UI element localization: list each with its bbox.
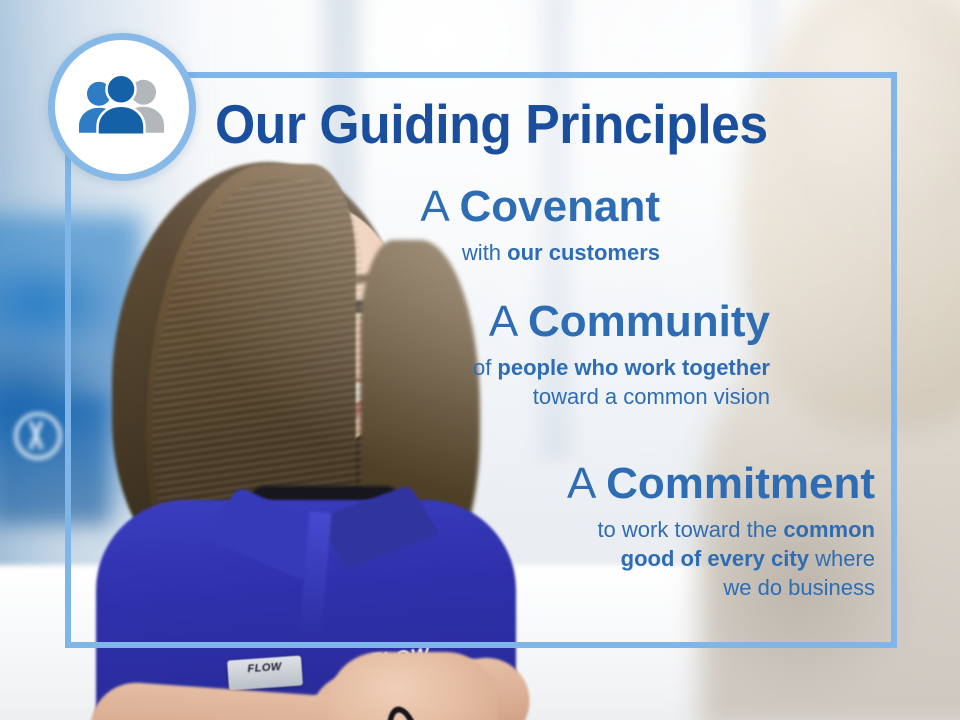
principle-commitment-sub-plain-2: where [809,546,875,571]
principle-commitment-subtitle: to work toward the common good of every … [360,515,875,603]
principle-covenant-sub-plain: with [462,240,507,265]
principle-covenant-lead: A [420,182,459,231]
principle-community-sub-plain-2: toward a common vision [533,384,770,409]
principle-commitment-sub-bold-2: good of every city [621,546,809,571]
principle-community: A Community of people who work together … [290,300,770,411]
principle-community-sub-plain-1: of [473,355,497,380]
principle-community-title: A Community [290,300,770,345]
principle-covenant-sub-bold: our customers [507,240,660,265]
principle-commitment-title: A Commitment [360,462,875,507]
principle-commitment-lead: A [567,459,606,508]
blurred-vehicle-badge [14,412,62,460]
principle-commitment-sub-plain-3: we do business [723,575,875,600]
principle-community-lead: A [489,297,528,346]
page-title: Our Guiding Principles [215,97,835,152]
principle-commitment-sub-plain-1: to work toward the [597,517,783,542]
principle-commitment-sub-bold-1: common [783,517,875,542]
name-badge-logo: FLOW [227,659,302,676]
principle-covenant-title: A Covenant [240,185,660,230]
principle-community-sub-bold-1: people who work together [497,355,770,380]
banner-graphic: FLOW FLOW Our Guiding Principles [0,0,960,720]
principle-community-subtitle: of people who work together toward a com… [290,353,770,412]
principle-commitment-keyword: Commitment [606,459,875,508]
principle-community-keyword: Community [528,297,770,346]
employee-name-badge: FLOW [227,655,303,690]
people-badge-circle [48,33,196,181]
principle-commitment: A Commitment to work toward the common g… [360,462,875,603]
principle-covenant: A Covenant with our customers [240,185,660,267]
employee-clasped-hands [328,652,498,720]
people-group-icon [73,75,171,137]
principle-covenant-subtitle: with our customers [240,238,660,267]
principle-covenant-keyword: Covenant [460,182,660,231]
